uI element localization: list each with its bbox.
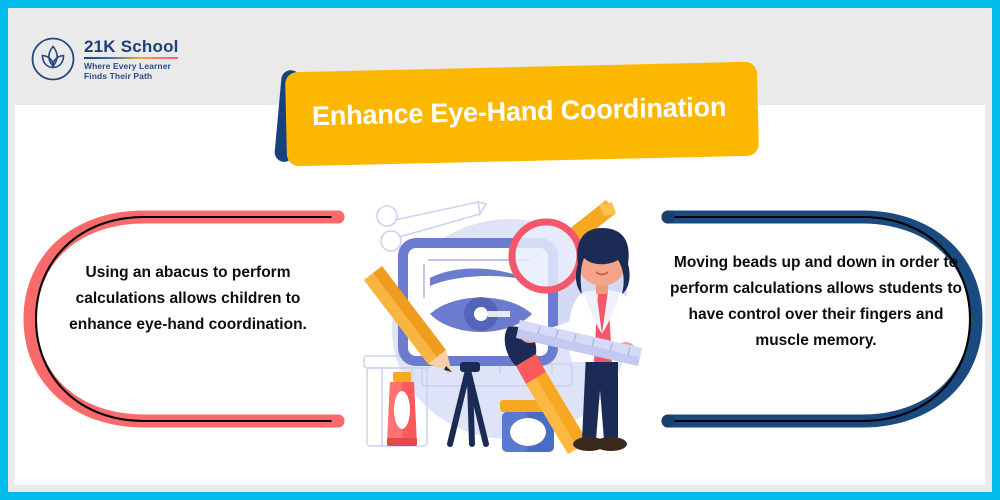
- title-banner: Enhance Eye-Hand Coordination: [270, 66, 770, 166]
- panel-right-text: Moving beads up and down in order to per…: [670, 250, 962, 354]
- logo-gradient-rule: [84, 57, 178, 59]
- lotus-circle-icon: [30, 36, 76, 82]
- infographic-canvas: 21K School Where Every Learner Finds The…: [0, 0, 1000, 500]
- illustration: [360, 194, 660, 456]
- frame-inner: 21K School Where Every Learner Finds The…: [8, 8, 992, 492]
- bracket-dot-bottom: [662, 415, 675, 428]
- panel-left: Using an abacus to perform calculations …: [18, 204, 358, 434]
- logo-text-block: 21K School Where Every Learner Finds The…: [84, 37, 179, 82]
- panel-left-text: Using an abacus to perform calculations …: [48, 260, 328, 338]
- brand-logo[interactable]: 21K School Where Every Learner Finds The…: [30, 36, 179, 82]
- panel-right: Moving beads up and down in order to per…: [648, 204, 988, 434]
- logo-title: 21K School: [84, 37, 179, 56]
- bracket-dot-bottom: [332, 415, 345, 428]
- logo-tagline-line1: Where Every Learner: [84, 61, 179, 72]
- bracket-dot-top: [662, 211, 675, 224]
- paint-tube-icon: [387, 372, 417, 446]
- bracket-dot-top: [332, 211, 345, 224]
- logo-tagline-line2: Finds Their Path: [84, 71, 179, 82]
